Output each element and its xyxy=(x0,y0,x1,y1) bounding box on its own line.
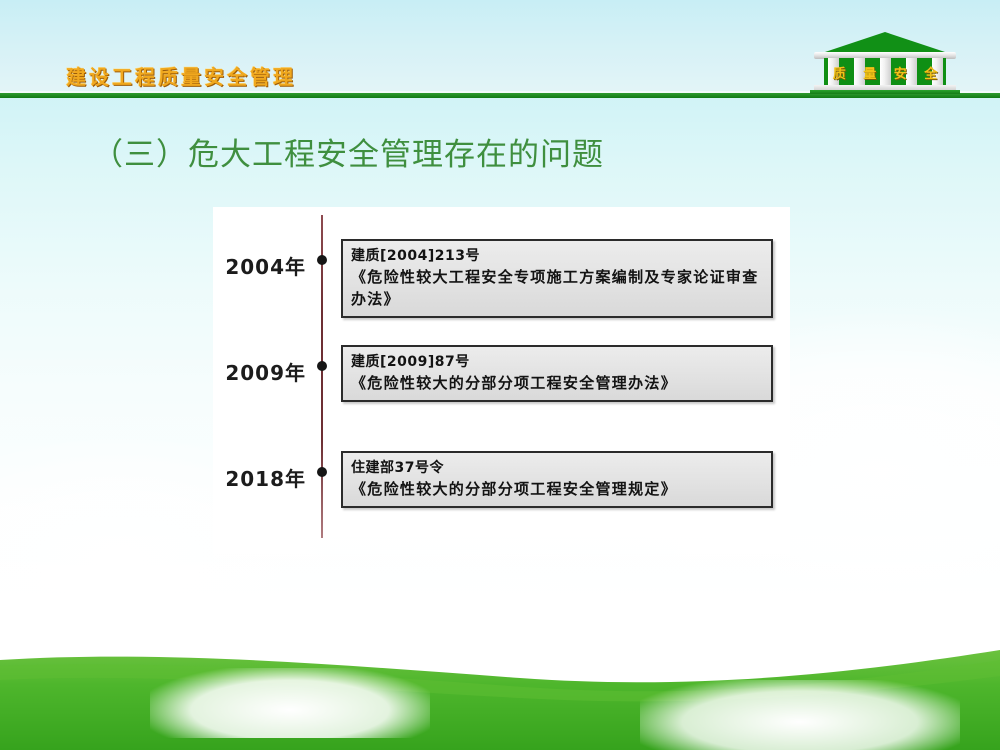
timeline-doc-number: 住建部37号令 xyxy=(351,458,763,478)
timeline-dot xyxy=(317,467,327,477)
logo-pediment-icon xyxy=(822,32,948,53)
timeline-card: 住建部37号令 《危险性较大的分部分项工程安全管理规定》 xyxy=(341,451,773,508)
timeline-doc-title: 《危险性较大的分部分项工程安全管理规定》 xyxy=(351,478,763,500)
logo-char-2: 量 xyxy=(863,63,876,82)
timeline-doc-number: 建质[2004]213号 xyxy=(351,246,763,266)
grass-decoration xyxy=(0,620,1000,750)
timeline-dot xyxy=(317,255,327,265)
timeline-doc-title: 《危险性较大的分部分项工程安全管理办法》 xyxy=(351,372,763,394)
timeline-doc-title: 《危险性较大工程安全专项施工方案编制及专家论证审查办法》 xyxy=(351,266,763,310)
logo-char-4: 全 xyxy=(924,63,937,82)
logo-char-3: 安 xyxy=(894,63,907,82)
slide-canvas: 建设工程质量安全管理 质 量 安 全 （三）危大工程安全管理存在的问题 2004… xyxy=(0,0,1000,750)
content-panel-fade xyxy=(213,520,790,580)
timeline-year-label: 2009年 xyxy=(213,357,306,386)
page-title: （三）危大工程安全管理存在的问题 xyxy=(92,129,604,174)
timeline-card: 建质[2004]213号 《危险性较大工程安全专项施工方案编制及专家论证审查办法… xyxy=(341,239,773,318)
timeline-year-label: 2018年 xyxy=(213,463,306,492)
logo-plinth xyxy=(810,90,960,94)
timeline-doc-number: 建质[2009]87号 xyxy=(351,352,763,372)
logo-char-1: 质 xyxy=(833,63,846,82)
quality-safety-building-logo: 质 量 安 全 xyxy=(810,32,960,94)
header-title: 建设工程质量安全管理 xyxy=(66,61,296,90)
timeline-year-label: 2004年 xyxy=(213,251,306,280)
cloud-shape-left xyxy=(150,668,430,738)
logo-text: 质 量 安 全 xyxy=(824,60,946,84)
timeline-card: 建质[2009]87号 《危险性较大的分部分项工程安全管理办法》 xyxy=(341,345,773,402)
cloud-shape-right xyxy=(640,680,960,750)
timeline-dot xyxy=(317,361,327,371)
